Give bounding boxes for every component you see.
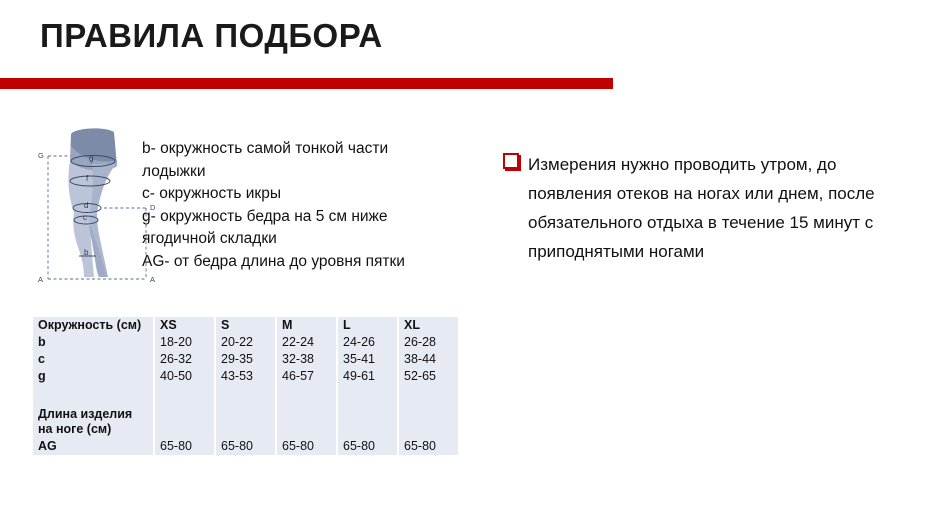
table-row: c 26-32 29-35 32-38 35-41 38-44 [33, 351, 458, 368]
measure-key-line: c- окружность икры [142, 183, 442, 206]
row-label: c [33, 351, 154, 368]
table-header-label: Окружность (см) [33, 317, 154, 334]
row-value: 26-32 [154, 351, 215, 368]
row-value: 65-80 [154, 438, 215, 455]
figure-lower-leg [73, 212, 108, 277]
row-value: 24-26 [337, 334, 398, 351]
title-accent-rule [0, 78, 613, 89]
spacer-cell [154, 385, 215, 406]
row-value: 32-38 [276, 351, 337, 368]
section-header-line2: на ноге (см) [38, 422, 111, 436]
row-value: 35-41 [337, 351, 398, 368]
row-value: 46-57 [276, 368, 337, 385]
note-block: Измерения нужно проводить утром, до появ… [503, 150, 913, 266]
row-value: 65-80 [276, 438, 337, 455]
row-value: 18-20 [154, 334, 215, 351]
section-header-line1: Длина изделия [38, 407, 132, 421]
row-value: 52-65 [398, 368, 458, 385]
measure-key-line: ягодичной складки [142, 228, 442, 251]
label-d: d [84, 201, 88, 210]
table-spacer-row [33, 385, 458, 406]
measure-key-line: b- окружность самой тонкой части [142, 138, 442, 161]
size-chart-table: Окружность (см) XS S M L XL b 18-20 20-2… [33, 317, 458, 455]
red-square-bullet-icon [503, 153, 519, 169]
measurement-key: b- окружность самой тонкой части лодыжки… [142, 138, 442, 273]
measure-key-line: AG- от бедра длина до уровня пятки [142, 251, 442, 274]
measure-key-line: лодыжки [142, 161, 442, 184]
table-header-size: XL [398, 317, 458, 334]
table-header-size: M [276, 317, 337, 334]
label-point-G: G [38, 151, 44, 160]
row-label: b [33, 334, 154, 351]
table-section-header-row: Длина изделия на ноге (см) [33, 406, 458, 438]
spacer-cell [337, 406, 398, 438]
row-label: AG [33, 438, 154, 455]
label-point-A-left: A [38, 275, 43, 284]
spacer-cell [337, 385, 398, 406]
spacer-cell [398, 406, 458, 438]
spacer-cell [276, 385, 337, 406]
table-row: b 18-20 20-22 22-24 24-26 26-28 [33, 334, 458, 351]
spacer-cell [215, 385, 276, 406]
label-c: c [83, 213, 87, 222]
spacer-cell [215, 406, 276, 438]
table-header-size: S [215, 317, 276, 334]
table-header-size: L [337, 317, 398, 334]
row-value: 29-35 [215, 351, 276, 368]
label-b: b [84, 248, 89, 257]
spacer-cell [398, 385, 458, 406]
row-label: g [33, 368, 154, 385]
row-value: 26-28 [398, 334, 458, 351]
spacer-cell [154, 406, 215, 438]
row-value: 40-50 [154, 368, 215, 385]
table-header-size: XS [154, 317, 215, 334]
label-g: g [89, 154, 93, 163]
section-header-label: Длина изделия на ноге (см) [33, 406, 154, 438]
row-value: 49-61 [337, 368, 398, 385]
row-value: 65-80 [215, 438, 276, 455]
row-value: 65-80 [398, 438, 458, 455]
table-header-row: Окружность (см) XS S M L XL [33, 317, 458, 334]
measure-key-line: g- окружность бедра на 5 см ниже [142, 206, 442, 229]
row-value: 65-80 [337, 438, 398, 455]
row-value: 22-24 [276, 334, 337, 351]
row-value: 43-53 [215, 368, 276, 385]
note-text: Измерения нужно проводить утром, до появ… [528, 150, 913, 266]
table-row: g 40-50 43-53 46-57 49-61 52-65 [33, 368, 458, 385]
table-row: AG 65-80 65-80 65-80 65-80 65-80 [33, 438, 458, 455]
spacer-cell [33, 385, 154, 406]
row-value: 38-44 [398, 351, 458, 368]
row-value: 20-22 [215, 334, 276, 351]
spacer-cell [276, 406, 337, 438]
label-point-A-right: A [150, 275, 155, 284]
page-title: ПРАВИЛА ПОДБОРА [40, 17, 383, 55]
